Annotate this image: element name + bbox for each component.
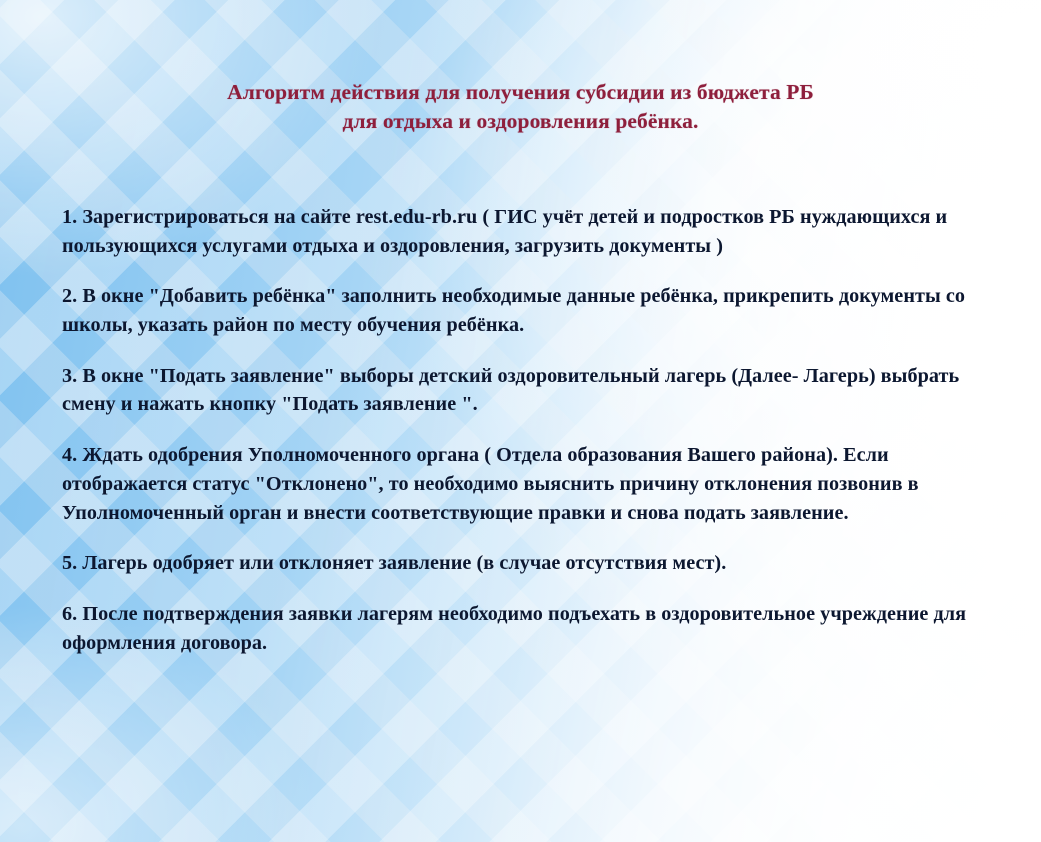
slide-title: Алгоритм действия для получения субсидии… <box>0 78 1041 136</box>
slide-title-line-2: для отдыха и оздоровления ребёнка. <box>0 107 1041 136</box>
slide-canvas: Алгоритм действия для получения субсидии… <box>0 0 1041 842</box>
step-paragraph-6: 6. После подтверждения заявки лагерям не… <box>62 600 1002 657</box>
slide-content: Алгоритм действия для получения субсидии… <box>0 0 1041 842</box>
step-paragraph-2: 2. В окне "Добавить ребёнка" заполнить н… <box>62 282 1002 339</box>
step-paragraph-1: 1. Зарегистрироваться на сайте rest.edu-… <box>62 203 1002 260</box>
step-paragraph-5: 5. Лагерь одобряет или отклоняет заявлен… <box>62 549 1002 578</box>
slide-title-line-1: Алгоритм действия для получения субсидии… <box>0 78 1041 107</box>
step-paragraph-4: 4. Ждать одобрения Уполномоченного орган… <box>62 441 1002 527</box>
slide-body: 1. Зарегистрироваться на сайте rest.edu-… <box>62 203 1002 657</box>
step-paragraph-3: 3. В окне "Подать заявление" выборы детс… <box>62 362 1002 419</box>
